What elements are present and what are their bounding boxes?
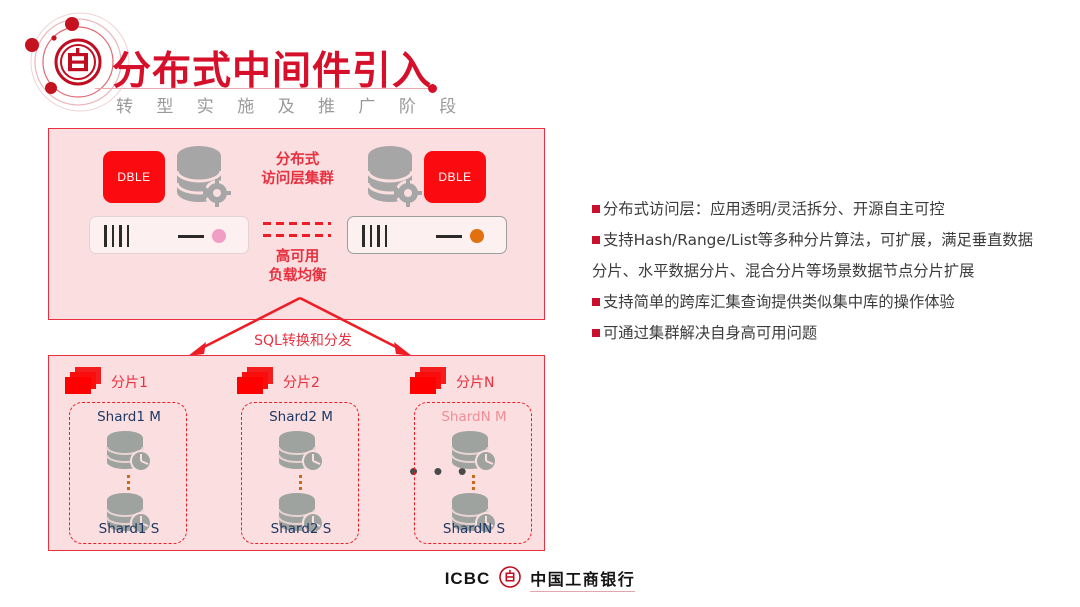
feature-bullet-list: 分布式访问层：应用透明/灵活拆分、开源自主可控 支持Hash/Range/Lis… — [592, 194, 1040, 349]
cluster-label-line2: 访问层集群 — [245, 170, 350, 189]
shard-title: 分片2 — [283, 372, 320, 392]
shard-stack-icon — [237, 367, 275, 395]
shard-title: 分片N — [456, 372, 494, 392]
icbc-emblem-icon — [499, 566, 521, 593]
server-status-dot — [212, 229, 226, 243]
shard-slave-label: ShardN S — [415, 521, 533, 537]
server-status-dot — [470, 229, 484, 243]
brand-cn-label: 中国工商银行 — [530, 566, 635, 592]
bullet-square-icon — [592, 329, 600, 337]
server-bar-icon — [347, 216, 507, 254]
list-item: 分布式访问层：应用透明/灵活拆分、开源自主可控 — [592, 194, 1040, 225]
bullet-square-icon — [592, 205, 600, 213]
server-bars — [362, 225, 387, 247]
sql-dispatch-label: SQL转换和分发 — [228, 330, 378, 350]
dble-badge-right: DBLE — [424, 151, 486, 203]
shard-box: Shard1 M — [69, 402, 187, 544]
list-item-text: 可通过集群解决自身高可用问题 — [603, 324, 817, 342]
database-clock-icon — [103, 429, 155, 473]
list-item-text: 分布式访问层：应用透明/灵活拆分、开源自主可控 — [603, 200, 945, 218]
cluster-label-top: 分布式 访问层集群 — [245, 151, 350, 189]
database-clock-icon — [275, 429, 327, 473]
brand-en-label: ICBC — [445, 569, 491, 589]
server-line — [178, 235, 204, 238]
ha-label-line1: 高可用 — [245, 248, 350, 267]
shard-box: ShardN M — [414, 402, 532, 544]
shard-slave-label: Shard2 S — [242, 521, 360, 537]
ha-label-line2: 负载均衡 — [245, 267, 350, 286]
database-gear-icon — [171, 143, 233, 211]
list-item-text: 支持Hash/Range/List等多种分片算法，可扩展，满足垂直数据分片、水平… — [592, 231, 1033, 280]
dble-badge-left: DBLE — [103, 151, 165, 203]
server-bars — [104, 225, 129, 247]
list-item: 支持Hash/Range/List等多种分片算法，可扩展，满足垂直数据分片、水平… — [592, 225, 1040, 287]
shard-title: 分片1 — [111, 372, 148, 392]
bullet-square-icon — [592, 298, 600, 306]
shard-box: Shard2 M — [241, 402, 359, 544]
slide-header: 分布式中间件引入 转 型 实 施 及 推 广 阶 段 — [0, 0, 620, 125]
shard-slave-label: Shard1 S — [70, 521, 188, 537]
bullet-square-icon — [592, 236, 600, 244]
shard-stack-icon — [65, 367, 103, 395]
database-gear-icon — [362, 143, 424, 211]
list-item-text: 支持简单的跨库汇集查询提供类似集中库的操作体验 — [603, 293, 955, 311]
server-line — [436, 235, 462, 238]
dashed-link-icon — [263, 222, 331, 248]
footer-brand: ICBC 中国工商银行 — [0, 562, 1080, 596]
shard-stack-icon — [410, 367, 448, 395]
server-bar-icon — [89, 216, 249, 254]
ha-label: 高可用 负载均衡 — [245, 248, 350, 286]
page-title: 分布式中间件引入 — [112, 40, 432, 96]
shard-cluster-panel: 分片1 Shard1 M — [48, 355, 545, 551]
list-item: 支持简单的跨库汇集查询提供类似集中库的操作体验 — [592, 287, 1040, 318]
cluster-label-line1: 分布式 — [245, 151, 350, 170]
shard-master-label: Shard1 M — [70, 409, 188, 425]
page-subtitle: 转 型 实 施 及 推 广 阶 段 — [116, 92, 465, 117]
shard-master-label: ShardN M — [415, 409, 533, 425]
access-layer-cluster-panel: DBLE 分布式 访问层集群 — [48, 128, 545, 320]
shard-master-label: Shard2 M — [242, 409, 360, 425]
database-clock-icon — [448, 429, 500, 473]
list-item: 可通过集群解决自身高可用问题 — [592, 318, 1040, 349]
